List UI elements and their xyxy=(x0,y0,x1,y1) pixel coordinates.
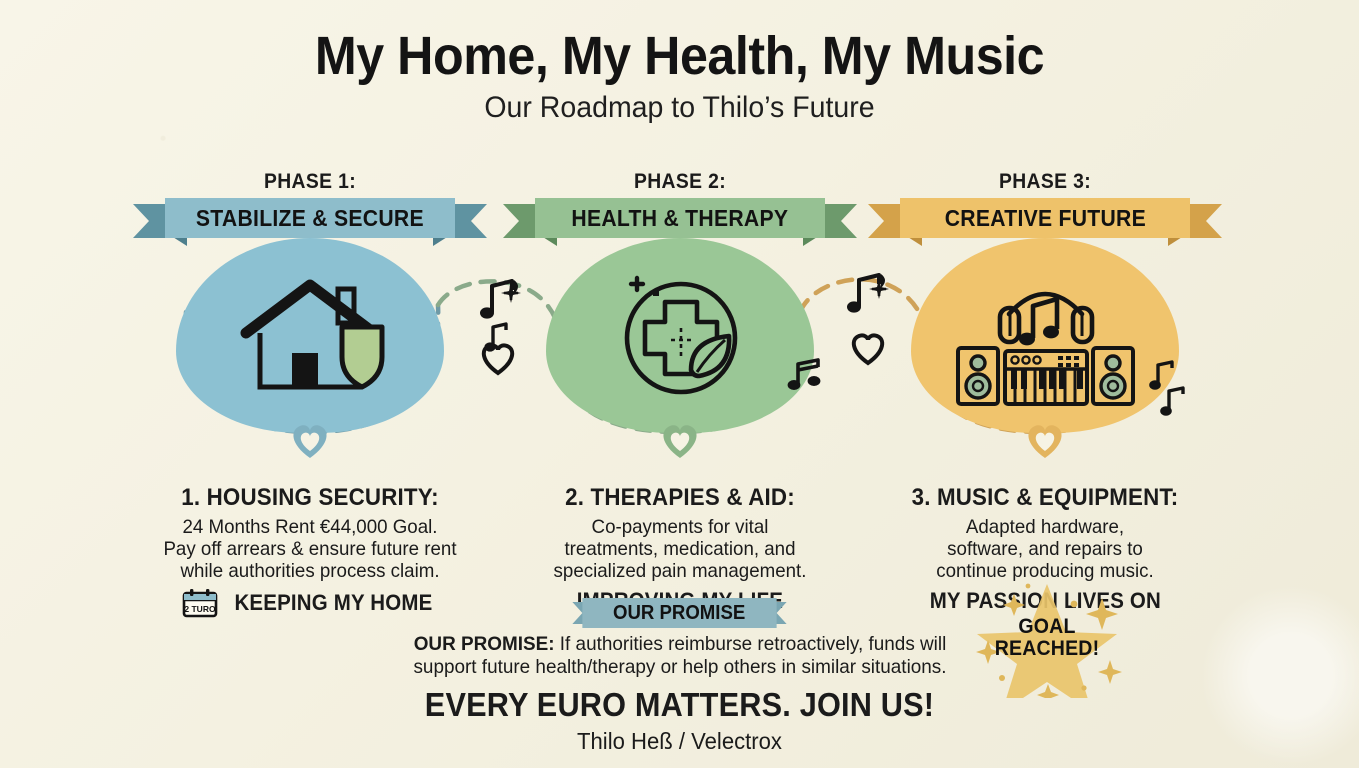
phase-2-heart-badge xyxy=(658,420,702,465)
phase-1-blob-wrap xyxy=(145,238,475,438)
medical-cross-leaf-icon xyxy=(605,266,755,406)
sparkle-icon xyxy=(868,278,890,300)
goal-reached-text: GOAL REACHED! xyxy=(968,578,1126,698)
music-equipment-icon xyxy=(953,266,1138,406)
phase-1-heart-badge xyxy=(288,420,332,465)
ribbon-band: CREATIVE FUTURE xyxy=(900,198,1190,238)
house-shield-icon xyxy=(230,271,390,401)
phase-2-caption-line-3: specialized pain management. xyxy=(522,560,839,582)
phase-2-blob xyxy=(546,238,814,433)
signature: Thilo Heß / Velectrox xyxy=(27,728,1332,755)
phase-1-caption-line-2: Pay off arrears & ensure future rent xyxy=(152,538,469,560)
heart-icon xyxy=(288,420,332,460)
phase-1-caption-line-3: while authorities process claim. xyxy=(152,560,469,582)
phase-2-caption-line-1: Co-payments for vital xyxy=(522,516,839,538)
goal-line-2: REACHED! xyxy=(995,638,1100,660)
phase-1-banner: STABILIZE & SECURE xyxy=(151,198,469,240)
promise-ribbon: OUR PROMISE xyxy=(582,598,776,628)
phase-1-kicker: PHASE 1: xyxy=(158,170,462,194)
promise-ribbon-label: OUR PROMISE xyxy=(613,602,745,625)
goal-reached-badge: GOAL REACHED! xyxy=(962,578,1132,698)
heart-icon xyxy=(478,340,518,376)
phase-3-heart-badge xyxy=(1023,420,1067,465)
phase-1-blob xyxy=(176,238,444,433)
phase-column-1: PHASE 1: STABILIZE & SECURE 1. xyxy=(145,170,475,618)
sparkle-icon xyxy=(500,282,522,304)
promise-lead: OUR PROMISE: xyxy=(413,633,554,655)
phase-2-banner-label: HEALTH & THERAPY xyxy=(572,205,789,232)
call-to-action: EVERY EURO MATTERS. JOIN US! xyxy=(48,686,1312,724)
heart-icon xyxy=(1023,420,1067,460)
music-note-icon xyxy=(786,358,830,396)
phase-3-caption-title: 3. MUSIC & EQUIPMENT: xyxy=(892,484,1199,512)
phase-2-caption: 2. THERAPIES & AID: Co-payments for vita… xyxy=(515,484,845,614)
ribbon-band: HEALTH & THERAPY xyxy=(535,198,825,238)
promise-text: OUR PROMISE: If authorities reimburse re… xyxy=(398,633,961,679)
ribbon-band: STABILIZE & SECURE xyxy=(165,198,455,238)
phase-3-caption-line-1: Adapted hardware, xyxy=(887,516,1204,538)
phase-3-caption-line-2: software, and repairs to xyxy=(887,538,1204,560)
phase-2-kicker: PHASE 2: xyxy=(528,170,832,194)
phase-3-blob xyxy=(911,238,1179,433)
promise-block: OUR PROMISE OUR PROMISE: If authorities … xyxy=(0,598,1359,679)
goal-line-1: GOAL xyxy=(1018,616,1075,638)
page-title: My Home, My Health, My Music xyxy=(48,28,1312,85)
phase-1-caption-title: 1. HOUSING SECURITY: xyxy=(157,484,464,512)
heart-icon xyxy=(658,420,702,460)
phase-2-banner: HEALTH & THERAPY xyxy=(521,198,839,240)
phase-3-banner-label: CREATIVE FUTURE xyxy=(944,205,1145,232)
promise-ribbon-band: OUR PROMISE xyxy=(582,598,776,628)
heart-icon xyxy=(848,330,888,366)
phase-2-caption-line-2: treatments, medication, and xyxy=(522,538,839,560)
page-subtitle: Our Roadmap to Thilo’s Future xyxy=(34,91,1325,124)
phase-3-kicker: PHASE 3: xyxy=(893,170,1197,194)
header: My Home, My Health, My Music Our Roadmap… xyxy=(0,28,1359,124)
phase-2-blob-wrap xyxy=(515,238,845,438)
music-note-icon xyxy=(1157,386,1191,420)
phase-2-caption-title: 2. THERAPIES & AID: xyxy=(527,484,834,512)
phase-3-banner: CREATIVE FUTURE xyxy=(886,198,1204,240)
phase-1-caption-line-1: 24 Months Rent €44,000 Goal. xyxy=(152,516,469,538)
phase-1-banner-label: STABILIZE & SECURE xyxy=(196,205,424,232)
